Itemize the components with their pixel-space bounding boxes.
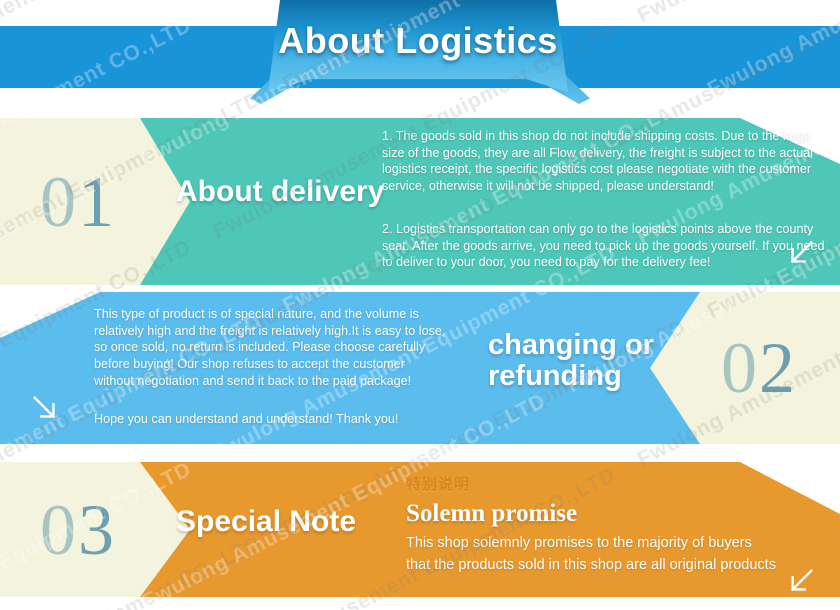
section-headline-line-2: refunding [488,361,654,392]
section-about-delivery: 01 About delivery 1. The goods sold in t… [0,118,840,285]
arrow-down-right-icon [30,393,60,423]
section-number-digit-1: 0 [40,162,78,242]
section-paragraph-2: 2. Logistics transportation can only go … [382,221,830,271]
arrow-down-left-icon [786,238,816,268]
section-paragraph-2: Hope you can understand and understand! … [94,411,446,428]
arrow-down-left-icon [786,566,816,596]
section-paragraph-1: This shop solemnly promises to the major… [406,534,836,553]
section-promise-title: Solemn promise [406,500,577,528]
section-changing-refunding: 02 changing or refunding This type of pr… [0,292,840,444]
about-logistics-infographic: About Logistics 01 About delivery 1. The… [0,0,840,610]
page-title: About Logistics [268,20,568,62]
section-special-note: 03 Special Note 特别说明 Solemn promise This… [0,462,840,597]
section-number-digit-1: 0 [721,328,759,408]
section-number-digit-2: 2 [759,328,797,408]
section-paragraph-1: 1. The goods sold in this shop do not in… [382,128,830,195]
section-number-digit-2: 1 [78,162,116,242]
section-headline: About delivery [176,176,384,208]
section-number-digit-1: 0 [40,490,78,570]
section-paragraph-1: This type of product is of special natur… [94,306,446,390]
section-headline: Special Note [176,506,356,538]
section-headline-line-1: changing or [488,330,654,361]
section-chinese-heading: 特别说明 [406,473,470,494]
section-number-digit-2: 3 [78,490,116,570]
section-paragraph-2: that the products sold in this shop are … [406,556,836,575]
page-header: About Logistics [0,0,840,110]
section-number: 03 [40,494,116,566]
section-number: 01 [40,166,116,238]
section-number: 02 [721,332,797,404]
section-headline: changing or refunding [488,330,654,393]
